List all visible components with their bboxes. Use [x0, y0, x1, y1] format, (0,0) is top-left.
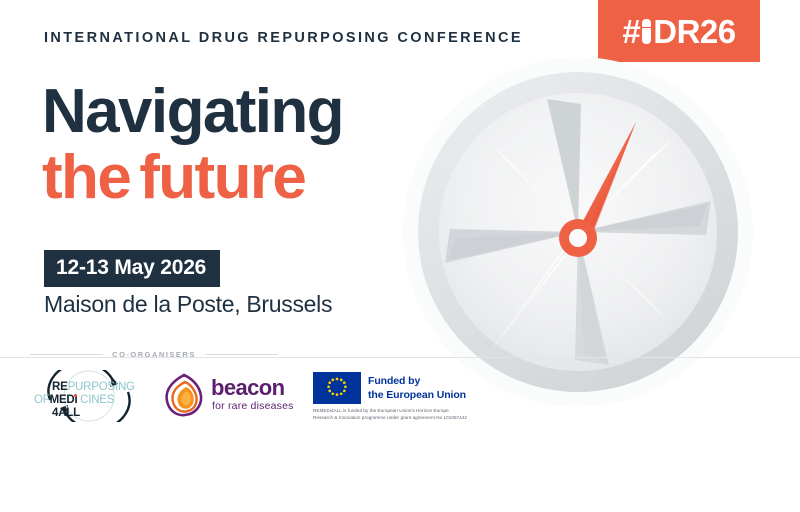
- venue-text: Maison de la Poste, Brussels: [44, 291, 332, 318]
- logo-eu-funding: Funded by the European Union REMEDi4ALL …: [313, 372, 513, 422]
- eu-funding-disclaimer: REMEDi4ALL is funded by the European Uni…: [313, 407, 518, 421]
- eu-funding-line-1: Funded by: [368, 375, 466, 389]
- logo-rom-line-3: 4ALL: [52, 408, 80, 420]
- date-badge: 12-13 May 2026: [44, 250, 220, 287]
- coorganisers-rule-right: [205, 354, 278, 355]
- kicker-text: INTERNATIONAL DRUG REPURPOSING CONFERENC…: [44, 30, 523, 46]
- headline-word-the: the: [42, 143, 130, 212]
- logo-beacon: beacon for rare diseases: [162, 371, 294, 421]
- conference-banner: INTERNATIONAL DRUG REPURPOSING CONFERENC…: [0, 0, 800, 512]
- hashtag-prefix: #: [622, 15, 640, 48]
- flame-icon: [162, 373, 206, 417]
- logo-rom-text: REPURPOSING OFMEDICINES 4ALL: [26, 370, 152, 422]
- logo-repurposing-of-medicines-4all: REPURPOSING OFMEDICINES 4ALL: [26, 370, 152, 422]
- hashtag-suffix: DR26: [653, 15, 735, 48]
- hashtag-text: # DR26: [622, 15, 735, 48]
- headline: Navigating thefuture: [42, 80, 343, 210]
- eu-disclaimer-line-1: REMEDi4ALL is funded by the European Uni…: [313, 407, 518, 414]
- coorganisers-label: CO-ORGANISERS: [112, 350, 196, 359]
- eu-disclaimer-line-2: Research & Innovation programme under gr…: [313, 414, 518, 421]
- headline-line-1: Navigating: [42, 80, 343, 144]
- headline-line-2: thefuture: [42, 146, 343, 210]
- eu-funding-line-2: the European Union: [368, 389, 466, 403]
- pill-dot-icon: [74, 394, 77, 397]
- eu-flag-icon: [313, 372, 361, 404]
- coorganisers-heading: CO-ORGANISERS: [30, 350, 278, 359]
- logo-rom-line-2: OFMEDICINES: [34, 395, 114, 407]
- pill-i-icon: [641, 19, 652, 44]
- logo-beacon-tagline: for rare diseases: [212, 401, 294, 412]
- logo-rom-line-1: REPURPOSING: [52, 382, 135, 394]
- eu-funding-text: Funded by the European Union: [368, 375, 466, 403]
- compass-illustration: [398, 52, 758, 412]
- coorganisers-rule-left: [30, 354, 103, 355]
- logo-beacon-wordmark: beacon: [211, 377, 284, 399]
- headline-word-future: future: [139, 143, 305, 212]
- coorganiser-logos: REPURPOSING OFMEDICINES 4ALL beacon for …: [0, 368, 800, 428]
